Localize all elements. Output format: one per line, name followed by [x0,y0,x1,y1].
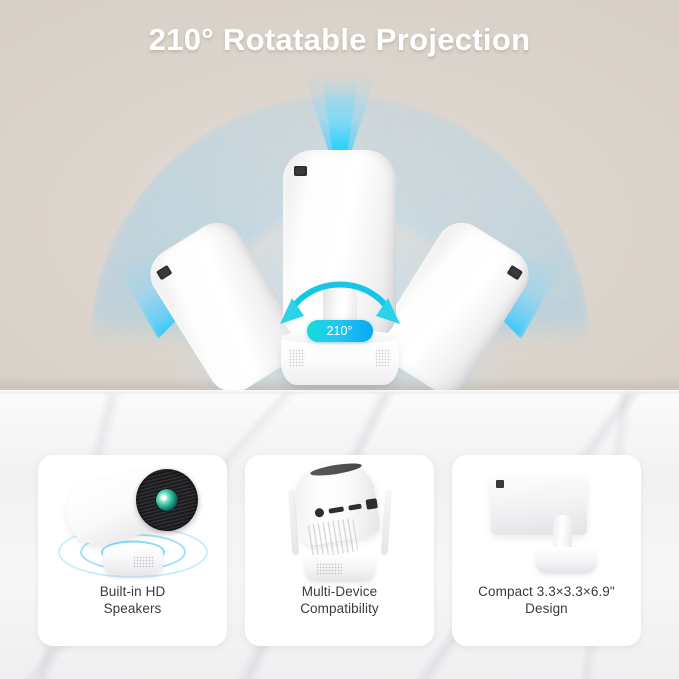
feature-card-caption: Built-in HD Speakers [94,583,172,617]
projector-side-assembly [491,475,603,575]
caption-line-2: Compatibility [300,600,379,617]
product-feature-image: 210° Rotatable Projection 210° [0,0,679,679]
projector-body [491,475,587,535]
projector-base [535,547,597,573]
lens-glass-icon [154,487,181,514]
speaker-grille-icon [375,349,391,367]
caption-line-1: Built-in HD [100,583,166,600]
ir-sensor-icon [294,166,307,176]
feature-card-caption: Compact 3.3×3.3×6.9" Design [472,583,621,617]
vent-grille-icon [307,518,358,559]
ir-sensor-icon [496,480,504,488]
feature-card-caption: Multi-Device Compatibility [294,583,385,617]
caption-line-1: Multi-Device [300,583,379,600]
speaker-grille-icon [289,349,305,367]
projector-rear-assembly [288,463,392,581]
projector-rear-ports-view-icon [245,455,434,583]
feature-card-list: Built-in HD Speakers [38,455,641,646]
projector-side-profile-view-icon [452,455,641,583]
projector-angled-with-sound-rings-icon [38,455,227,583]
hero-section: 210° Rotatable Projection 210° [0,0,679,390]
rotation-arc-arrow-icon [272,240,408,326]
projector-base [304,555,376,581]
speaker-grille-icon [316,563,342,575]
power-port-icon [365,498,377,510]
caption-line-2: Design [478,600,615,617]
caption-line-1: Compact 3.3×3.3×6.9" [478,583,615,600]
status-badge: 210° [307,320,373,342]
stand-arm-right [380,489,392,555]
feature-card-compatibility[interactable]: Multi-Device Compatibility [245,455,434,646]
speaker-grille-icon [133,556,155,568]
projector-base [103,547,163,575]
feature-card-compact-design[interactable]: Compact 3.3×3.3×6.9" Design [452,455,641,646]
page-title: 210° Rotatable Projection [0,22,679,58]
caption-line-2: Speakers [100,600,166,617]
feature-card-speakers[interactable]: Built-in HD Speakers [38,455,227,646]
